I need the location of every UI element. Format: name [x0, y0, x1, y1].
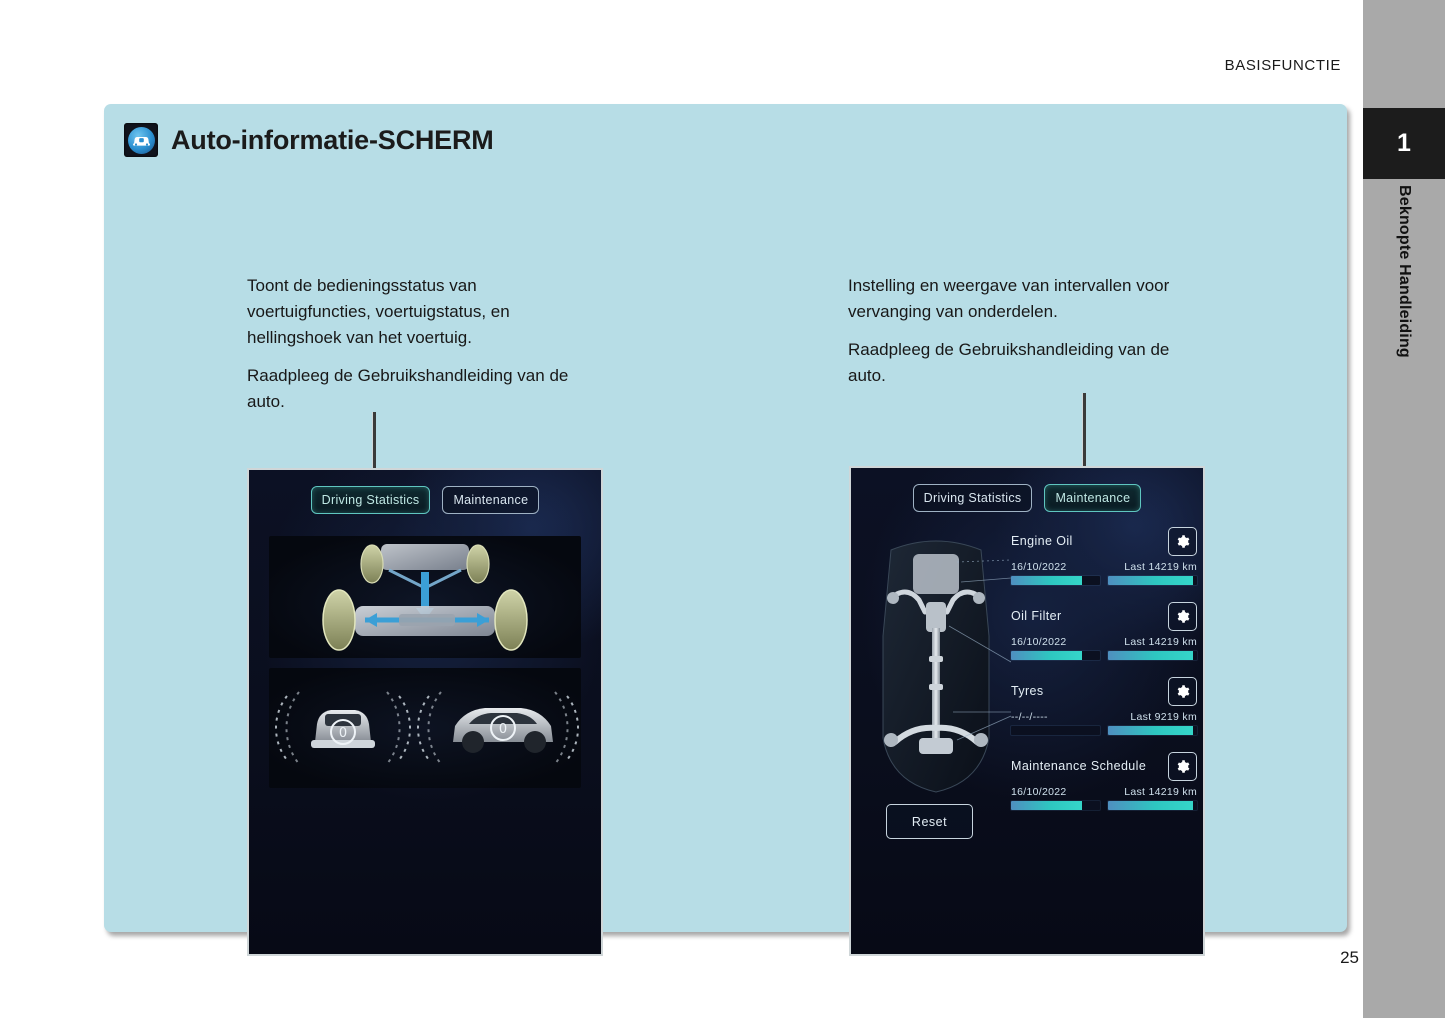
- maintenance-progress-bar-right: [1108, 576, 1197, 585]
- maintenance-item-date: 16/10/2022: [1011, 786, 1067, 798]
- maintenance-progress-bar-left: [1011, 726, 1100, 735]
- maintenance-progress-bar-left: [1011, 576, 1100, 585]
- maintenance-item-date: 16/10/2022: [1011, 636, 1067, 648]
- tab-maintenance[interactable]: Maintenance: [1044, 484, 1141, 512]
- svg-text:0: 0: [339, 726, 347, 741]
- gear-icon[interactable]: [1168, 752, 1197, 781]
- vehicle-info-icon: [124, 123, 158, 157]
- svg-text:0: 0: [499, 722, 507, 737]
- maintenance-progress-bar-left: [1011, 801, 1100, 810]
- maintenance-item-row: Engine Oil 16/10/2022 Last 14219 km: [1011, 526, 1197, 585]
- reset-button[interactable]: Reset: [886, 804, 973, 839]
- chapter-label-block: Beknopte Handleiding: [1363, 185, 1445, 485]
- maintenance-item-last: Last 14219 km: [1124, 636, 1197, 648]
- gear-icon[interactable]: [1168, 677, 1197, 706]
- maintenance-item-name: Tyres: [1011, 684, 1044, 698]
- description-right-paragraph-2: Raadpleeg de Gebruikshandleiding van de …: [848, 337, 1188, 389]
- leader-line-right: [1082, 393, 1086, 470]
- page-number: 25: [1340, 948, 1359, 968]
- maintenance-progress-bar-right: [1108, 801, 1197, 810]
- tab-driving-statistics-label: Driving Statistics: [322, 493, 420, 507]
- vehicle-topdown-illustration: [861, 516, 1011, 806]
- screenshot-maintenance: Driving Statistics Maintenance: [849, 466, 1205, 956]
- leader-line-left: [372, 412, 376, 470]
- description-left-paragraph-2: Raadpleeg de Gebruikshandleiding van de …: [247, 363, 577, 415]
- vehicle-attitude-views: 0 0: [269, 668, 581, 788]
- maintenance-progress-bar-left: [1011, 651, 1100, 660]
- maintenance-item-list: Engine Oil 16/10/2022 Last 14219 km: [1011, 526, 1197, 826]
- maintenance-item-last: Last 9219 km: [1130, 711, 1197, 723]
- tab-maintenance-label: Maintenance: [453, 493, 528, 507]
- maintenance-progress-bar-right: [1108, 651, 1197, 660]
- maintenance-item-last: Last 14219 km: [1124, 561, 1197, 573]
- gear-icon[interactable]: [1168, 602, 1197, 631]
- tab-maintenance[interactable]: Maintenance: [442, 486, 539, 514]
- screen-right-tabs: Driving Statistics Maintenance: [851, 484, 1203, 512]
- maintenance-item-row: Oil Filter 16/10/2022 Last 14219 km: [1011, 601, 1197, 660]
- maintenance-item-row: Maintenance Schedule 16/10/2022 Last 142…: [1011, 751, 1197, 810]
- maintenance-item-last: Last 14219 km: [1124, 786, 1197, 798]
- maintenance-item-date: --/--/----: [1011, 711, 1048, 723]
- screenshot-driving-statistics: Driving Statistics Maintenance: [247, 468, 603, 956]
- tab-driving-statistics-label: Driving Statistics: [924, 491, 1022, 505]
- gear-icon[interactable]: [1168, 527, 1197, 556]
- chapter-number: 1: [1397, 129, 1411, 158]
- description-left: Toont de bedieningsstatus van voertuigfu…: [247, 273, 577, 415]
- description-right-paragraph-1: Instelling en weergave van intervallen v…: [848, 273, 1188, 325]
- description-right: Instelling en weergave van intervallen v…: [848, 273, 1188, 389]
- content-panel: Auto-informatie-SCHERM Toont de bedienin…: [104, 104, 1347, 932]
- reset-button-label: Reset: [912, 815, 947, 829]
- page-title: Auto-informatie-SCHERM: [171, 125, 494, 156]
- chassis-illustration: [269, 536, 581, 658]
- maintenance-item-name: Engine Oil: [1011, 534, 1073, 548]
- tab-maintenance-label: Maintenance: [1055, 491, 1130, 505]
- running-header: BASISFUNCTIE: [1225, 57, 1341, 74]
- chapter-label: Beknopte Handleiding: [1395, 185, 1413, 358]
- maintenance-item-name: Maintenance Schedule: [1011, 759, 1146, 773]
- maintenance-item-row: Tyres --/--/---- Last 9219 km: [1011, 676, 1197, 735]
- maintenance-item-name: Oil Filter: [1011, 609, 1062, 623]
- tab-driving-statistics[interactable]: Driving Statistics: [311, 486, 431, 514]
- panel-title-row: Auto-informatie-SCHERM: [124, 123, 494, 157]
- chapter-number-block: 1: [1363, 108, 1445, 179]
- screen-left-tabs: Driving Statistics Maintenance: [249, 486, 601, 514]
- maintenance-progress-bar-right: [1108, 726, 1197, 735]
- tab-driving-statistics[interactable]: Driving Statistics: [913, 484, 1033, 512]
- description-left-paragraph-1: Toont de bedieningsstatus van voertuigfu…: [247, 273, 577, 351]
- maintenance-item-date: 16/10/2022: [1011, 561, 1067, 573]
